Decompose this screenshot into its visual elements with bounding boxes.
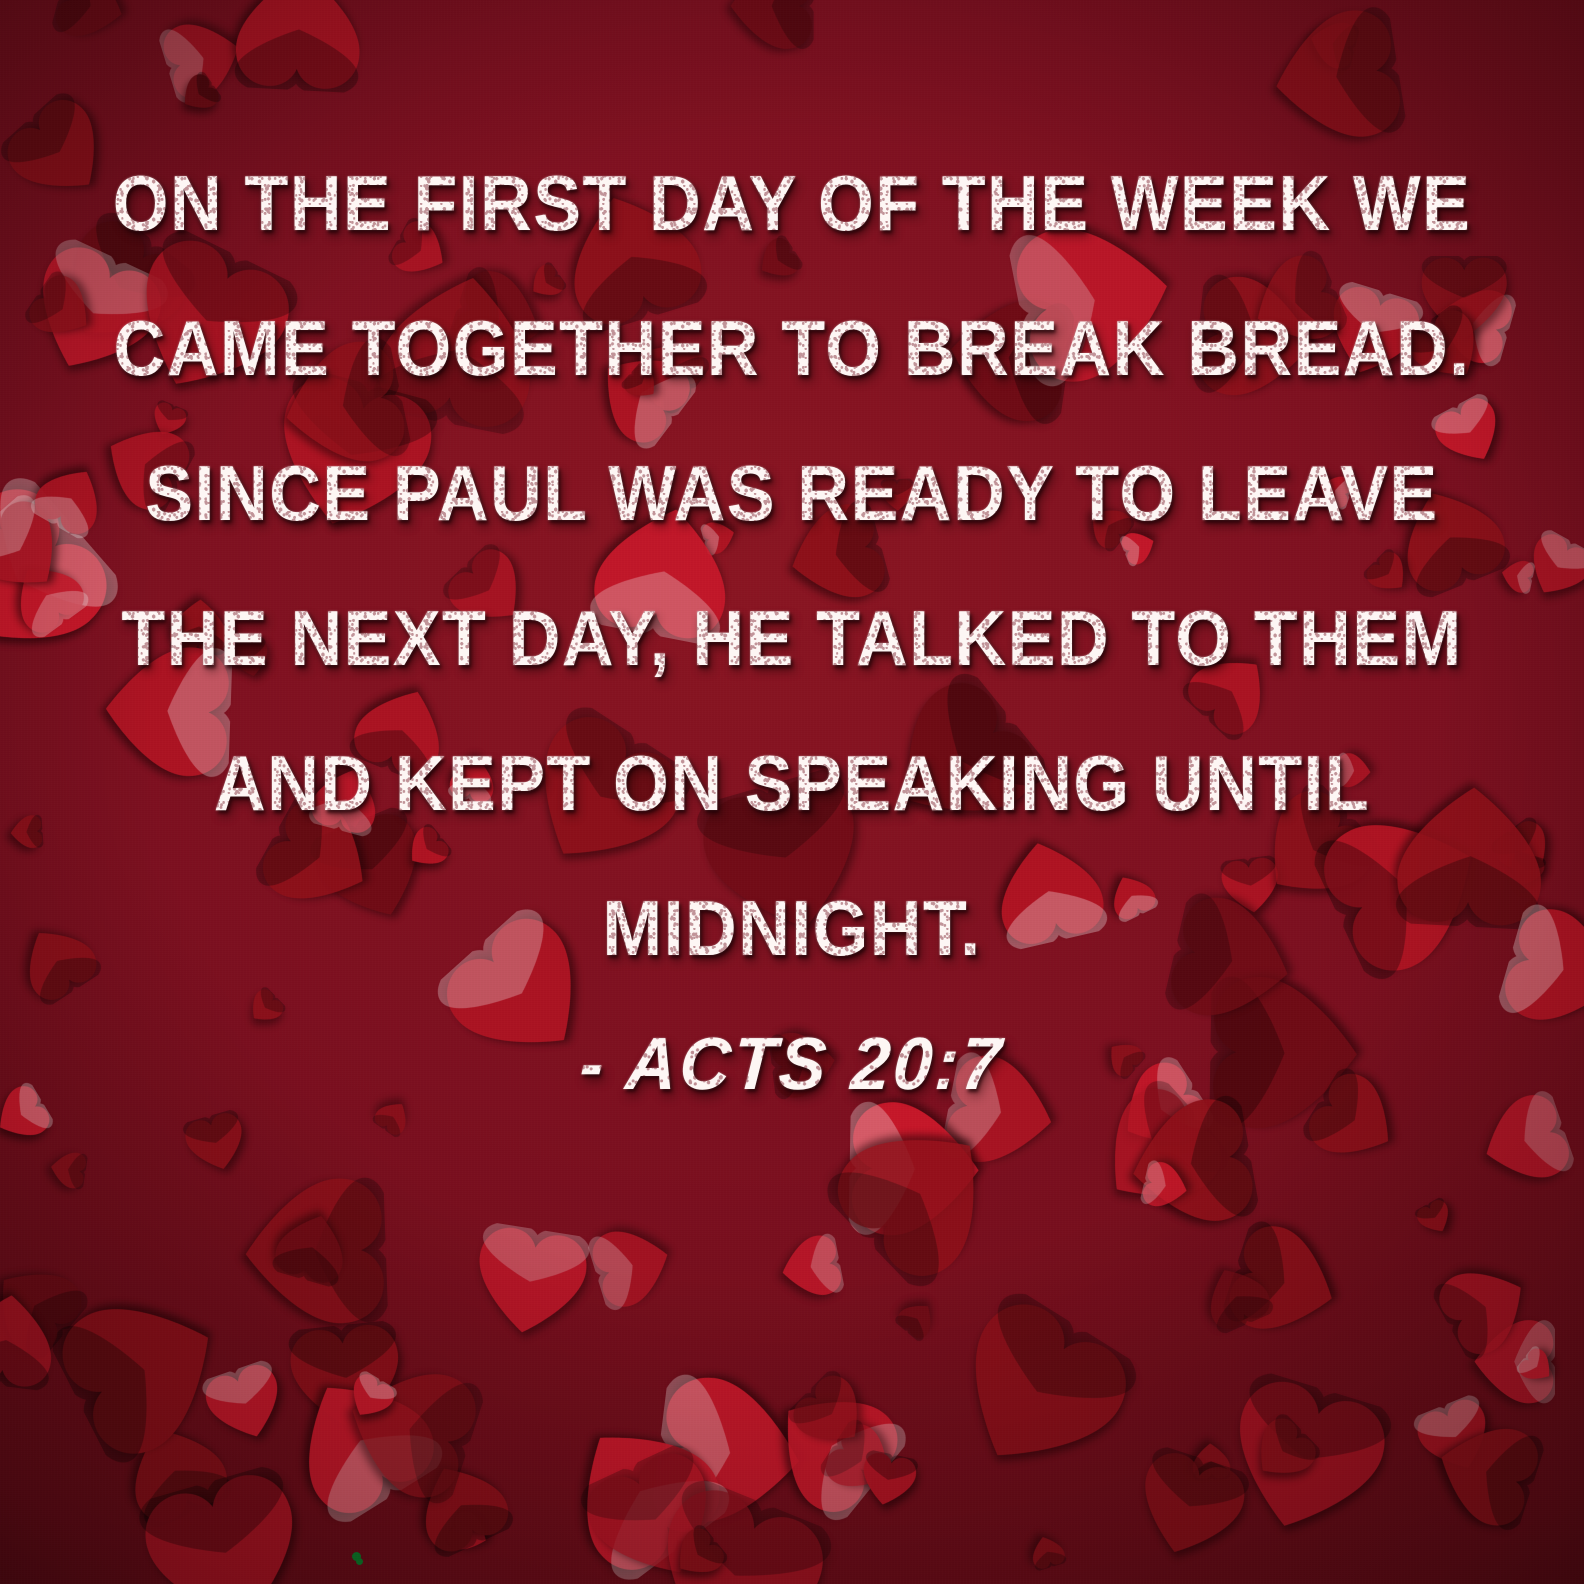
heart-confetti-icon [776,1230,846,1304]
heart-confetti-icon [893,1294,943,1343]
verse-citation: - ACTS 20:7 [577,1018,1006,1110]
heart-confetti-icon [230,0,368,94]
heart-confetti-icon [0,1288,61,1392]
heart-confetti-icon [730,0,814,52]
heart-confetti-icon [47,1148,88,1191]
heart-confetti-icon [585,1215,680,1314]
heart-confetti-icon [466,1220,595,1342]
verse-text-block: ON THE FIRST DAY OF THE WEEK WE CAME TOG… [0,131,1584,1001]
heart-confetti-icon [926,1282,1149,1500]
verse-image-canvas: ON THE FIRST DAY OF THE WEEK WE CAME TOG… [0,0,1584,1584]
verse-line: SINCE PAUL WAS READY TO LEAVE [63,421,1520,566]
verse-line: CAME TOGETHER TO BREAK BREAD. [63,276,1520,421]
verse-line: ON THE FIRST DAY OF THE WEEK WE [63,131,1520,276]
heart-confetti-icon [50,0,132,48]
verse-line: THE NEXT DAY, HE TALKED TO THEM [63,566,1520,711]
heart-confetti-icon [856,1448,922,1510]
heart-confetti-icon [1413,1196,1458,1240]
verse-line: MIDNIGHT. [63,856,1520,1001]
green-speck-icon [356,1558,363,1565]
verse-line: AND KEPT ON SPEAKING UNTIL [63,711,1520,856]
citation-wrapper: - ACTS 20:7 [0,1018,1584,1110]
heart-confetti-icon [1026,1532,1068,1572]
heart-confetti-icon [179,1108,252,1178]
heart-confetti-icon [1121,1089,1261,1238]
